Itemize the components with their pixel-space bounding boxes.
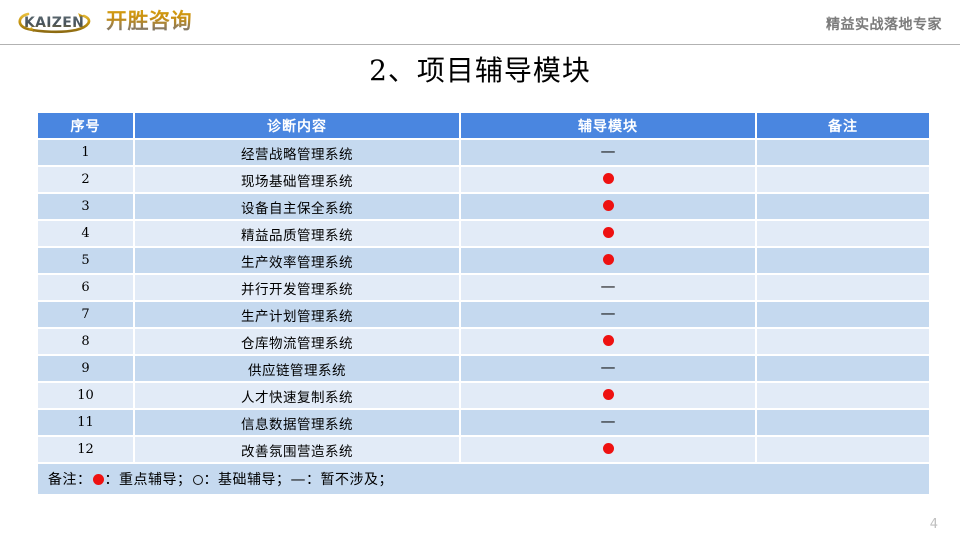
row-remark: [757, 194, 929, 219]
row-module-marker: —: [461, 140, 755, 165]
row-index: 11: [38, 410, 133, 435]
table-row: 7 生产计划管理系统 —: [38, 302, 929, 327]
dash-icon: —: [601, 362, 616, 373]
red-dot-icon: [603, 443, 614, 454]
company-logo: KAIZEN 开胜咨询: [14, 6, 192, 36]
guidance-module-table: 序号 诊断内容 辅导模块 备注 1 经营战略管理系统 — 2 现场基础管理系统 …: [36, 111, 931, 496]
svg-text:KAIZEN: KAIZEN: [24, 15, 84, 31]
column-header-module: 辅导模块: [461, 113, 755, 138]
column-header-content: 诊断内容: [135, 113, 459, 138]
row-module-marker: —: [461, 356, 755, 381]
row-index: 2: [38, 167, 133, 192]
red-dot-icon: [603, 389, 614, 400]
row-index: 7: [38, 302, 133, 327]
dash-icon: —: [601, 416, 616, 427]
row-content: 设备自主保全系统: [135, 194, 459, 219]
row-index: 4: [38, 221, 133, 246]
row-remark: [757, 275, 929, 300]
red-dot-icon: [603, 227, 614, 238]
table-row: 2 现场基础管理系统: [38, 167, 929, 192]
page-title: 2、项目辅导模块: [0, 52, 960, 90]
table-body: 1 经营战略管理系统 — 2 现场基础管理系统 3 设备自主保全系统 4 精益品…: [38, 140, 929, 494]
table-row: 3 设备自主保全系统: [38, 194, 929, 219]
row-content: 生产效率管理系统: [135, 248, 459, 273]
slide: KAIZEN 开胜咨询 精益实战落地专家 2、项目辅导模块 序号 诊断内容 辅导…: [0, 0, 960, 540]
row-remark: [757, 437, 929, 462]
table-row: 12 改善氛围营造系统: [38, 437, 929, 462]
row-index: 3: [38, 194, 133, 219]
row-remark: [757, 383, 929, 408]
row-index: 6: [38, 275, 133, 300]
column-header-remark: 备注: [757, 113, 929, 138]
row-index: 8: [38, 329, 133, 354]
row-remark: [757, 221, 929, 246]
table-header-row: 序号 诊断内容 辅导模块 备注: [38, 113, 929, 138]
red-dot-icon: [603, 173, 614, 184]
hollow-circle-icon: [193, 475, 203, 485]
row-index: 10: [38, 383, 133, 408]
red-dot-icon: [603, 200, 614, 211]
row-remark: [757, 356, 929, 381]
row-remark: [757, 329, 929, 354]
slide-header: KAIZEN 开胜咨询 精益实战落地专家: [0, 0, 960, 45]
row-remark: [757, 302, 929, 327]
row-remark: [757, 140, 929, 165]
row-module-marker: —: [461, 302, 755, 327]
row-content: 供应链管理系统: [135, 356, 459, 381]
red-dot-icon: [603, 254, 614, 265]
row-content: 人才快速复制系统: [135, 383, 459, 408]
row-content: 精益品质管理系统: [135, 221, 459, 246]
row-content: 信息数据管理系统: [135, 410, 459, 435]
table-row: 6 并行开发管理系统 —: [38, 275, 929, 300]
legend-dot-meaning: ：重点辅导；: [105, 472, 192, 488]
table-row: 11 信息数据管理系统 —: [38, 410, 929, 435]
legend-dash-meaning: ：暂不涉及；: [306, 472, 393, 488]
row-remark: [757, 410, 929, 435]
row-content: 改善氛围营造系统: [135, 437, 459, 462]
kaizen-logo-icon: KAIZEN: [14, 6, 100, 36]
table-legend-row: 备注：：重点辅导；：基础辅导；—：暂不涉及；: [38, 464, 929, 494]
red-dot-icon: [93, 474, 104, 485]
column-header-index: 序号: [38, 113, 133, 138]
row-module-marker: [461, 194, 755, 219]
red-dot-icon: [603, 335, 614, 346]
row-index: 5: [38, 248, 133, 273]
row-module-marker: [461, 167, 755, 192]
row-content: 生产计划管理系统: [135, 302, 459, 327]
row-module-marker: [461, 248, 755, 273]
legend-cell: 备注：：重点辅导；：基础辅导；—：暂不涉及；: [38, 464, 929, 494]
legend-ring-meaning: ：基础辅导；: [204, 472, 291, 488]
table-row: 1 经营战略管理系统 —: [38, 140, 929, 165]
row-content: 并行开发管理系统: [135, 275, 459, 300]
table-row: 10 人才快速复制系统: [38, 383, 929, 408]
dash-icon: —: [601, 146, 616, 157]
row-module-marker: [461, 329, 755, 354]
row-index: 12: [38, 437, 133, 462]
row-content: 现场基础管理系统: [135, 167, 459, 192]
row-module-marker: —: [461, 275, 755, 300]
row-remark: [757, 248, 929, 273]
row-index: 9: [38, 356, 133, 381]
table-row: 4 精益品质管理系统: [38, 221, 929, 246]
table-row: 5 生产效率管理系统: [38, 248, 929, 273]
row-remark: [757, 167, 929, 192]
logo-chinese-name: 开胜咨询: [106, 6, 192, 36]
dash-icon: —: [291, 474, 307, 485]
legend-label: 备注：: [48, 472, 92, 488]
header-tagline: 精益实战落地专家: [826, 14, 942, 34]
page-number: 4: [930, 517, 938, 532]
table-row: 8 仓库物流管理系统: [38, 329, 929, 354]
row-module-marker: [461, 437, 755, 462]
header-divider: [0, 44, 960, 45]
row-content: 经营战略管理系统: [135, 140, 459, 165]
row-index: 1: [38, 140, 133, 165]
row-module-marker: [461, 221, 755, 246]
row-module-marker: —: [461, 410, 755, 435]
table-row: 9 供应链管理系统 —: [38, 356, 929, 381]
row-content: 仓库物流管理系统: [135, 329, 459, 354]
dash-icon: —: [601, 281, 616, 292]
row-module-marker: [461, 383, 755, 408]
dash-icon: —: [601, 308, 616, 319]
